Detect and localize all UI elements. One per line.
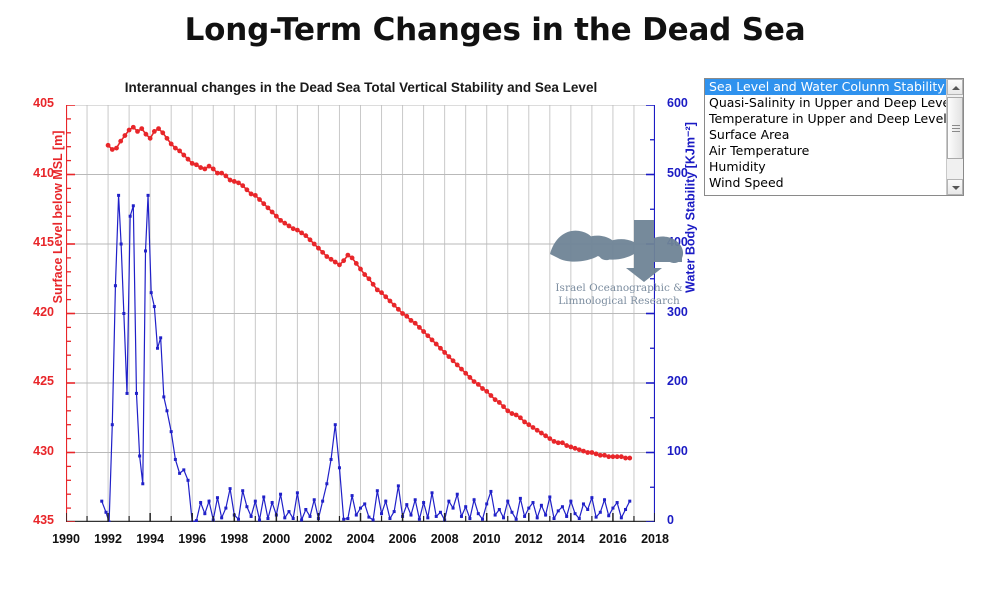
right-tick-label: 400: [667, 235, 711, 249]
data-point: [282, 221, 287, 226]
data-point: [547, 436, 552, 441]
data-point: [447, 500, 450, 503]
data-point: [460, 515, 463, 518]
data-point: [526, 422, 531, 427]
right-axis-label: Water Body Stability [KJm⁻²]: [683, 88, 698, 328]
x-tick-label: 1990: [42, 532, 90, 546]
left-tick-label: 435: [14, 513, 54, 527]
data-point: [355, 514, 358, 517]
dataset-listbox[interactable]: Sea Level and Water Colunm StabilityQuas…: [704, 78, 964, 196]
data-point: [371, 282, 376, 287]
left-axis-label: Surface Level below MSL [m]: [51, 107, 65, 327]
data-point: [623, 456, 628, 461]
data-point: [152, 129, 157, 134]
data-point: [258, 518, 261, 521]
data-point: [237, 518, 240, 521]
data-point: [459, 367, 464, 372]
data-point: [362, 272, 367, 277]
data-point: [585, 450, 590, 455]
data-point: [531, 501, 534, 504]
left-tick-label: 415: [14, 235, 54, 249]
data-point: [351, 494, 354, 497]
data-point: [392, 303, 397, 308]
dataset-list[interactable]: Sea Level and Water Colunm StabilityQuas…: [705, 79, 946, 191]
data-point: [245, 187, 250, 192]
chart-subtitle: Interannual changes in the Dead Sea Tota…: [66, 80, 656, 95]
data-point: [556, 440, 561, 445]
data-point: [536, 516, 539, 519]
data-point: [564, 443, 569, 448]
data-point: [363, 502, 366, 505]
data-point: [477, 512, 480, 515]
data-point: [354, 261, 359, 266]
data-point: [552, 439, 557, 444]
data-point: [467, 375, 472, 380]
data-point: [313, 498, 316, 501]
data-point: [527, 507, 530, 510]
data-point: [543, 433, 548, 438]
list-item[interactable]: Humidity: [705, 159, 946, 175]
data-point: [170, 430, 173, 433]
data-point: [208, 500, 211, 503]
data-point: [159, 336, 162, 339]
data-point: [190, 161, 195, 166]
triangle-down-icon: [952, 186, 960, 190]
data-point: [254, 500, 257, 503]
data-point: [156, 347, 159, 350]
data-point: [498, 508, 501, 511]
list-item[interactable]: Temperature in Upper and Deep Levels: [705, 111, 946, 127]
data-point: [135, 392, 138, 395]
data-point: [468, 517, 471, 520]
data-point: [173, 146, 178, 151]
data-point: [153, 305, 156, 308]
data-point: [220, 516, 223, 519]
x-tick-label: 2008: [421, 532, 469, 546]
x-tick-label: 2012: [505, 532, 553, 546]
data-point: [106, 143, 111, 148]
data-point: [603, 498, 606, 501]
data-point: [127, 128, 132, 133]
data-point: [582, 502, 585, 505]
data-point: [456, 493, 459, 496]
chart-container: Interannual changes in the Dead Sea Tota…: [0, 60, 700, 540]
data-point: [515, 518, 518, 521]
data-point: [451, 358, 456, 363]
data-point: [577, 447, 582, 452]
data-point: [502, 516, 505, 519]
data-point: [181, 153, 186, 158]
data-point: [203, 512, 206, 515]
data-point: [472, 379, 477, 384]
list-item[interactable]: Sea Level and Water Colunm Stability: [705, 79, 946, 95]
data-point: [300, 518, 303, 521]
list-item[interactable]: Surface Area: [705, 127, 946, 143]
data-point: [397, 484, 400, 487]
data-point: [388, 517, 391, 520]
data-point: [489, 490, 492, 493]
data-point: [589, 450, 594, 455]
data-point: [431, 491, 434, 494]
data-point: [430, 338, 435, 343]
data-point: [150, 291, 153, 294]
data-point: [216, 496, 219, 499]
data-point: [160, 130, 165, 135]
data-point: [333, 260, 338, 265]
data-point: [594, 451, 599, 456]
data-point: [296, 491, 299, 494]
data-point: [122, 312, 125, 315]
x-tick-label: 2018: [631, 532, 679, 546]
data-point: [266, 205, 271, 210]
data-point: [253, 193, 258, 198]
page-title: Long-Term Changes in the Dead Sea: [0, 12, 990, 48]
data-point: [224, 507, 227, 510]
data-point: [325, 482, 328, 485]
data-point: [118, 139, 123, 144]
data-point: [337, 262, 342, 267]
data-point: [493, 397, 498, 402]
data-point: [195, 519, 198, 522]
data-point: [312, 242, 317, 247]
data-point: [338, 466, 341, 469]
data-point: [147, 194, 150, 197]
data-point: [279, 493, 282, 496]
plot-area: Israel Oceanographic & Limnological Rese…: [66, 105, 655, 522]
data-point: [519, 497, 522, 500]
data-point: [215, 171, 220, 176]
data-point: [510, 511, 513, 514]
data-point: [464, 505, 467, 508]
data-point: [299, 230, 304, 235]
data-point: [384, 500, 387, 503]
data-point: [261, 201, 266, 206]
data-point: [156, 126, 161, 131]
data-point: [262, 495, 265, 498]
data-point: [169, 142, 174, 147]
data-point: [334, 423, 337, 426]
data-point: [138, 454, 141, 457]
data-point: [439, 511, 442, 514]
data-point: [241, 489, 244, 492]
data-point: [228, 178, 233, 183]
data-point: [573, 446, 578, 451]
data-point: [615, 454, 620, 459]
left-tick-label: 410: [14, 166, 54, 180]
data-point: [480, 386, 485, 391]
data-point: [409, 318, 414, 323]
data-point: [607, 514, 610, 517]
data-point: [123, 133, 128, 138]
data-point: [619, 454, 624, 459]
series-line: [108, 127, 630, 458]
right-tick-label: 100: [667, 444, 711, 458]
data-point: [393, 510, 396, 513]
data-point: [380, 512, 383, 515]
data-point: [602, 453, 607, 458]
data-point: [309, 515, 312, 518]
data-point: [148, 136, 153, 141]
data-point: [404, 314, 409, 319]
data-point: [139, 126, 144, 131]
data-point: [114, 284, 117, 287]
scroll-down-button[interactable]: [947, 179, 963, 195]
data-point: [249, 192, 254, 197]
data-point: [628, 500, 631, 503]
data-point: [372, 518, 375, 521]
data-point: [324, 254, 329, 259]
data-point: [518, 415, 523, 420]
data-point: [219, 171, 224, 176]
data-point: [271, 501, 274, 504]
data-point: [523, 515, 526, 518]
list-item[interactable]: Quasi-Salinity in Upper and Deep Levels: [705, 95, 946, 111]
data-point: [421, 329, 426, 334]
x-tick-label: 2010: [463, 532, 511, 546]
x-tick-label: 2016: [589, 532, 637, 546]
data-point: [141, 482, 144, 485]
data-point: [400, 311, 405, 316]
data-point: [544, 514, 547, 517]
x-tick-label: 2002: [294, 532, 342, 546]
listbox-scrollbar[interactable]: [946, 79, 963, 195]
data-point: [178, 472, 181, 475]
data-point: [485, 502, 488, 505]
data-point: [561, 505, 564, 508]
data-point: [414, 498, 417, 501]
x-tick-label: 1992: [84, 532, 132, 546]
data-point: [240, 183, 245, 188]
data-point: [100, 500, 103, 503]
data-point: [396, 307, 401, 312]
data-point: [376, 489, 379, 492]
data-point: [595, 516, 598, 519]
scroll-up-button[interactable]: [947, 79, 963, 95]
right-tick-label: 0: [667, 513, 711, 527]
data-point: [308, 237, 313, 242]
data-point: [422, 501, 425, 504]
data-point: [473, 498, 476, 501]
data-point: [409, 514, 412, 517]
data-point: [162, 395, 165, 398]
data-point: [379, 290, 384, 295]
data-point: [207, 164, 212, 169]
data-point: [367, 516, 370, 519]
data-point: [367, 276, 372, 281]
data-point: [144, 249, 147, 252]
data-point: [506, 500, 509, 503]
data-point: [553, 517, 556, 520]
data-point: [522, 420, 527, 425]
x-tick-label: 1998: [210, 532, 258, 546]
data-point: [476, 382, 481, 387]
data-point: [350, 256, 355, 261]
data-point: [104, 511, 107, 514]
data-point: [270, 210, 275, 215]
data-point: [177, 148, 182, 153]
data-point: [135, 129, 140, 134]
data-point: [455, 363, 460, 368]
x-tick-label: 2006: [379, 532, 427, 546]
data-point: [510, 411, 515, 416]
data-point: [292, 517, 295, 520]
data-point: [187, 479, 190, 482]
data-point: [514, 413, 519, 418]
data-point: [198, 165, 203, 170]
data-point: [144, 132, 149, 137]
data-point: [434, 342, 439, 347]
data-point: [548, 495, 551, 498]
list-item[interactable]: Air Temperature: [705, 143, 946, 159]
data-point: [494, 514, 497, 517]
data-point: [481, 518, 484, 521]
list-item[interactable]: Wind Speed: [705, 175, 946, 191]
data-point: [590, 496, 593, 499]
data-point: [129, 215, 132, 218]
data-point: [606, 454, 611, 459]
data-point: [131, 125, 136, 130]
data-point: [232, 179, 237, 184]
data-point: [599, 511, 602, 514]
data-point: [581, 449, 586, 454]
data-point: [274, 214, 279, 219]
left-tick-label: 425: [14, 374, 54, 388]
data-point: [616, 501, 619, 504]
data-point: [329, 257, 334, 262]
data-point: [330, 458, 333, 461]
data-point: [345, 253, 350, 258]
data-point: [624, 508, 627, 511]
x-tick-label: 1996: [168, 532, 216, 546]
data-point: [245, 505, 248, 508]
data-point: [574, 512, 577, 515]
data-point: [346, 517, 349, 520]
data-point: [442, 350, 447, 355]
data-point: [452, 507, 455, 510]
left-tick-label: 405: [14, 96, 54, 110]
data-point: [126, 392, 129, 395]
data-point: [446, 354, 451, 359]
data-point: [211, 167, 216, 172]
x-tick-label: 2000: [252, 532, 300, 546]
data-point: [463, 371, 468, 376]
chart-svg: [66, 105, 655, 522]
data-point: [342, 518, 345, 521]
data-point: [539, 431, 544, 436]
left-tick-label: 420: [14, 305, 54, 319]
data-point: [425, 333, 430, 338]
data-point: [435, 515, 438, 518]
data-point: [417, 325, 422, 330]
data-point: [182, 468, 185, 471]
data-point: [199, 501, 202, 504]
data-point: [304, 508, 307, 511]
data-point: [202, 167, 207, 172]
data-point: [531, 425, 536, 430]
data-point: [540, 504, 543, 507]
data-point: [303, 233, 308, 238]
data-point: [250, 515, 253, 518]
x-tick-label: 2004: [337, 532, 385, 546]
data-point: [165, 409, 168, 412]
data-point: [287, 510, 290, 513]
scrollbar-thumb[interactable]: [947, 97, 963, 159]
data-point: [120, 243, 123, 246]
data-point: [620, 516, 623, 519]
data-point: [560, 440, 565, 445]
grip-lines-icon: [952, 125, 960, 132]
data-point: [598, 453, 603, 458]
data-point: [236, 180, 241, 185]
data-point: [321, 500, 324, 503]
data-point: [426, 516, 429, 519]
data-point: [114, 146, 119, 151]
x-tick-label: 1994: [126, 532, 174, 546]
data-point: [568, 445, 573, 450]
data-point: [375, 287, 380, 292]
data-point: [501, 404, 506, 409]
data-point: [341, 258, 346, 263]
data-point: [418, 518, 421, 521]
data-point: [287, 224, 292, 229]
data-point: [117, 194, 120, 197]
data-point: [110, 147, 115, 152]
left-tick-label: 430: [14, 444, 54, 458]
x-tick-label: 2014: [547, 532, 595, 546]
data-point: [611, 507, 614, 510]
data-point: [497, 400, 502, 405]
data-point: [291, 226, 296, 231]
data-point: [229, 487, 232, 490]
data-point: [413, 321, 418, 326]
data-point: [316, 246, 321, 251]
data-point: [535, 428, 540, 433]
data-point: [295, 228, 300, 233]
data-point: [484, 389, 489, 394]
data-point: [174, 458, 177, 461]
data-point: [283, 516, 286, 519]
data-point: [565, 515, 568, 518]
data-point: [578, 517, 581, 520]
data-point: [278, 218, 283, 223]
data-point: [320, 250, 325, 255]
data-point: [438, 346, 443, 351]
data-point: [186, 157, 191, 162]
data-point: [505, 408, 510, 413]
data-point: [194, 162, 199, 167]
data-point: [569, 500, 572, 503]
right-tick-label: 300: [667, 305, 711, 319]
data-point: [388, 299, 393, 304]
data-point: [132, 204, 135, 207]
data-point: [111, 423, 114, 426]
data-point: [611, 454, 616, 459]
data-point: [627, 456, 632, 461]
data-point: [586, 508, 589, 511]
data-point: [359, 507, 362, 510]
data-point: [557, 509, 560, 512]
data-point: [489, 393, 494, 398]
data-point: [223, 173, 228, 178]
right-tick-label: 200: [667, 374, 711, 388]
data-point: [266, 517, 269, 520]
data-point: [358, 267, 363, 272]
data-point: [257, 197, 262, 202]
data-point: [405, 503, 408, 506]
data-point: [383, 294, 388, 299]
data-point: [165, 136, 170, 141]
triangle-up-icon: [952, 86, 960, 90]
